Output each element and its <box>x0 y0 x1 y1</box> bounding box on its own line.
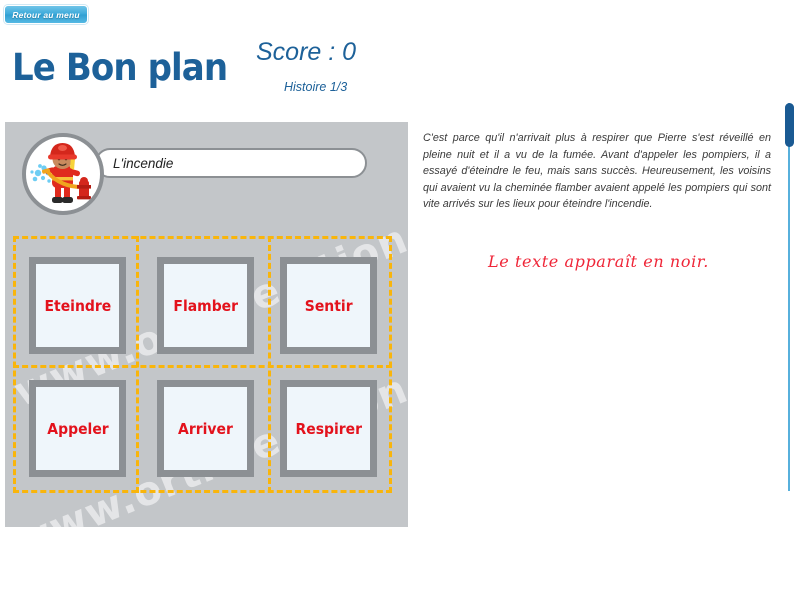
word-card-label: Appeler <box>47 420 108 438</box>
back-to-menu-label: Retour au menu <box>12 10 80 20</box>
story-title-field[interactable]: L'incendie <box>95 148 367 178</box>
story-title-row: L'incendie <box>5 122 408 232</box>
firefighter-icon <box>26 137 100 211</box>
story-counter: Histoire 1/3 <box>284 80 347 94</box>
word-card[interactable]: Flamber <box>157 257 254 354</box>
scrollbar-thumb[interactable] <box>785 103 794 147</box>
drop-zone-divider-horizontal <box>13 365 392 368</box>
hint-text: Le texte apparaît en noir. <box>488 252 709 271</box>
story-title-value: L'incendie <box>113 156 173 171</box>
scrollbar-track[interactable] <box>788 103 790 491</box>
word-card-label: Arriver <box>178 420 233 438</box>
word-card[interactable]: Respirer <box>280 380 377 477</box>
word-card-label: Respirer <box>295 420 361 438</box>
app-logo-text: Le Bon plan <box>12 46 227 89</box>
word-card-label: Flamber <box>173 297 238 315</box>
word-card[interactable]: Appeler <box>29 380 126 477</box>
firefighter-avatar <box>22 133 104 215</box>
word-card[interactable]: Eteindre <box>29 257 126 354</box>
word-card[interactable]: Sentir <box>280 257 377 354</box>
word-card[interactable]: Arriver <box>157 380 254 477</box>
app-logo: Le Bon plan <box>12 46 227 89</box>
back-to-menu-button[interactable]: Retour au menu <box>4 5 88 24</box>
story-text: C'est parce qu'il n'arrivait plus à resp… <box>423 130 771 213</box>
game-panel: www.orthoedition.com www.orthoedition.co… <box>5 122 408 527</box>
word-card-label: Sentir <box>305 297 353 315</box>
word-card-label: Eteindre <box>44 297 111 315</box>
score-display: Score : 0 <box>256 38 356 67</box>
